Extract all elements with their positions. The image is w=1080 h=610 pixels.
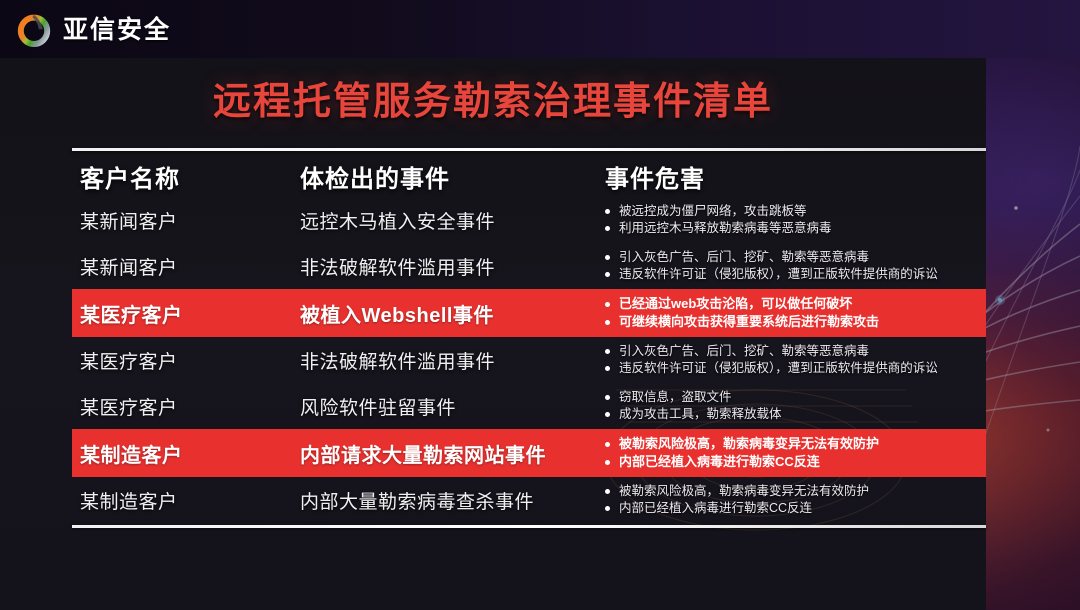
- harm-item: 成为攻击工具，勒索释放载体: [605, 406, 986, 423]
- harm-item: 引入灰色广告、后门、挖矿、勒索等恶意病毒: [605, 343, 986, 360]
- events-table: 客户名称 体检出的事件 事件危害 某新闻客户 远控木马植入安全事件 被远控成为僵…: [72, 148, 986, 528]
- aisino-ring-logo-icon: [14, 10, 54, 50]
- header-customer: 客户名称: [72, 159, 300, 194]
- cell-customer: 某新闻客户: [72, 253, 300, 280]
- cell-harm: 被远控成为僵尸网络，攻击跳板等 利用远控木马释放勒索病毒等恶意病毒: [605, 203, 986, 237]
- cell-event: 内部请求大量勒索网站事件: [300, 439, 605, 468]
- header-harm: 事件危害: [605, 159, 986, 194]
- brand-logo[interactable]: 亚信安全: [14, 10, 171, 50]
- harm-item: 引入灰色广告、后门、挖矿、勒索等恶意病毒: [605, 249, 986, 266]
- cell-event: 非法破解软件滥用事件: [300, 253, 605, 280]
- cell-customer: 某制造客户: [72, 439, 300, 468]
- cell-harm: 引入灰色广告、后门、挖矿、勒索等恶意病毒 违反软件许可证（侵犯版权），遭到正版软…: [605, 249, 986, 283]
- cell-harm: 被勒索风险极高，勒索病毒变异无法有效防护 内部已经植入病毒进行勒索CC反连: [605, 483, 986, 517]
- table-row-highlighted[interactable]: 某医疗客户 被植入Webshell事件 已经通过web攻击沦陷，可以做任何破坏 …: [72, 289, 986, 337]
- cell-event: 内部大量勒索病毒查杀事件: [300, 487, 605, 514]
- cell-event: 被植入Webshell事件: [300, 299, 605, 328]
- harm-item: 可继续横向攻击获得重要系统后进行勒索攻击: [605, 313, 986, 331]
- table-row[interactable]: 某医疗客户 风险软件驻留事件 窃取信息，盗取文件 成为攻击工具，勒索释放载体: [72, 383, 986, 429]
- harm-item: 已经通过web攻击沦陷，可以做任何破坏: [605, 295, 986, 313]
- cell-harm: 引入灰色广告、后门、挖矿、勒索等恶意病毒 违反软件许可证（侵犯版权），遭到正版软…: [605, 343, 986, 377]
- cell-customer: 某医疗客户: [72, 299, 300, 328]
- table-header-row: 客户名称 体检出的事件 事件危害: [72, 151, 986, 197]
- top-brand-bar: 亚信安全: [0, 0, 1080, 58]
- harm-item: 违反软件许可证（侵犯版权），遭到正版软件提供商的诉讼: [605, 360, 986, 377]
- table-bottom-rule: [72, 525, 986, 528]
- harm-item: 内部已经植入病毒进行勒索CC反连: [605, 453, 986, 471]
- cell-customer: 某制造客户: [72, 487, 300, 514]
- table-row[interactable]: 某制造客户 内部大量勒索病毒查杀事件 被勒索风险极高，勒索病毒变异无法有效防护 …: [72, 477, 986, 523]
- harm-item: 内部已经植入病毒进行勒索CC反连: [605, 500, 986, 517]
- table-row[interactable]: 某医疗客户 非法破解软件滥用事件 引入灰色广告、后门、挖矿、勒索等恶意病毒 违反…: [72, 337, 986, 383]
- cell-customer: 某医疗客户: [72, 393, 300, 420]
- brand-name: 亚信安全: [63, 10, 171, 50]
- cell-customer: 某新闻客户: [72, 207, 300, 234]
- table-row[interactable]: 某新闻客户 远控木马植入安全事件 被远控成为僵尸网络，攻击跳板等 利用远控木马释…: [72, 197, 986, 243]
- harm-item: 违反软件许可证（侵犯版权），遭到正版软件提供商的诉讼: [605, 266, 986, 283]
- cell-event: 非法破解软件滥用事件: [300, 347, 605, 374]
- header-event: 体检出的事件: [300, 159, 605, 194]
- cell-event: 风险软件驻留事件: [300, 393, 605, 420]
- harm-item: 被勒索风险极高，勒索病毒变异无法有效防护: [605, 435, 986, 453]
- harm-item: 被勒索风险极高，勒索病毒变异无法有效防护: [605, 483, 986, 500]
- cell-event: 远控木马植入安全事件: [300, 207, 605, 234]
- cell-harm: 被勒索风险极高，勒索病毒变异无法有效防护 内部已经植入病毒进行勒索CC反连: [605, 435, 986, 471]
- table-row-highlighted[interactable]: 某制造客户 内部请求大量勒索网站事件 被勒索风险极高，勒索病毒变异无法有效防护 …: [72, 429, 986, 477]
- page-title: 远程托管服务勒索治理事件清单: [0, 70, 986, 125]
- cell-harm: 窃取信息，盗取文件 成为攻击工具，勒索释放载体: [605, 389, 986, 423]
- cell-customer: 某医疗客户: [72, 347, 300, 374]
- presentation-slide: 亚信安全 远程托管服务勒索治理事件清单 客户名称 体检出的事件 事件危害 某新闻…: [0, 0, 1080, 610]
- harm-item: 窃取信息，盗取文件: [605, 389, 986, 406]
- cell-harm: 已经通过web攻击沦陷，可以做任何破坏 可继续横向攻击获得重要系统后进行勒索攻击: [605, 295, 986, 331]
- harm-item: 利用远控木马释放勒索病毒等恶意病毒: [605, 220, 986, 237]
- table-row[interactable]: 某新闻客户 非法破解软件滥用事件 引入灰色广告、后门、挖矿、勒索等恶意病毒 违反…: [72, 243, 986, 289]
- harm-item: 被远控成为僵尸网络，攻击跳板等: [605, 203, 986, 220]
